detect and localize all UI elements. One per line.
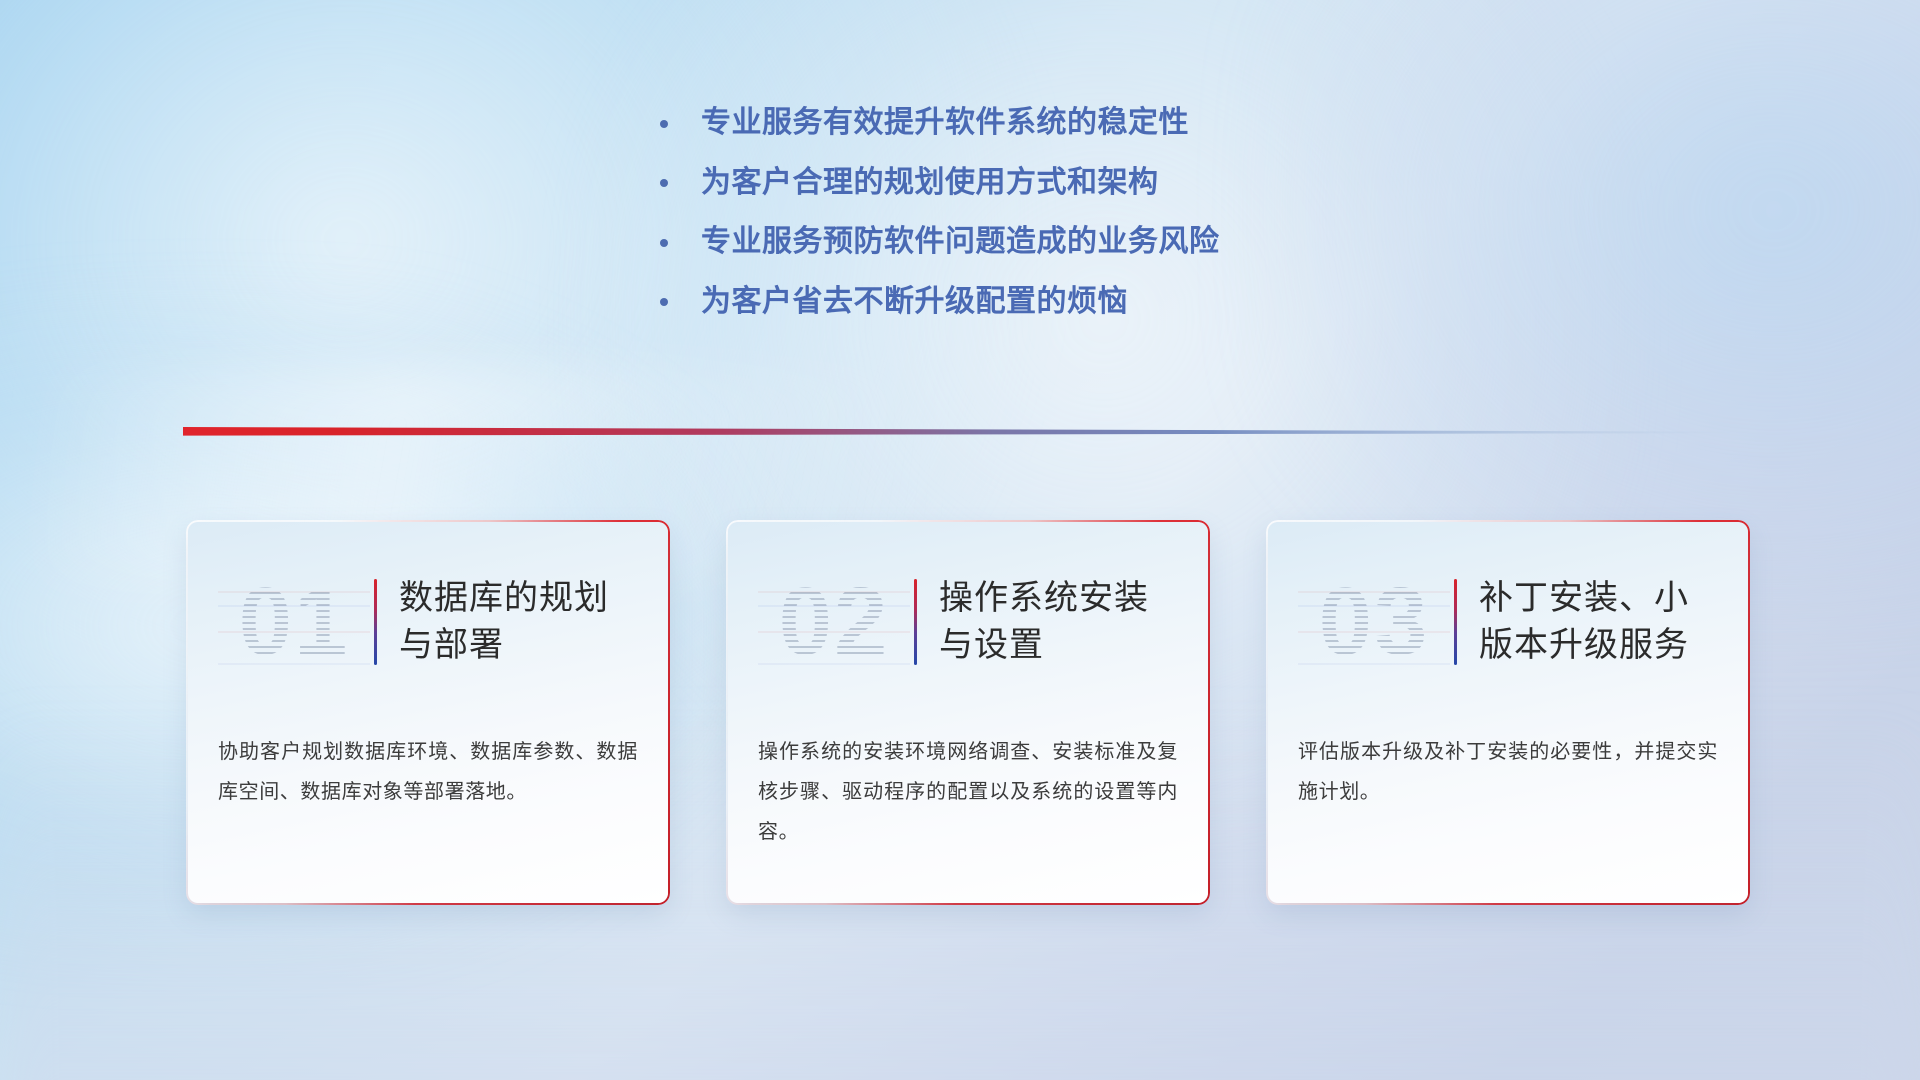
card-number: 01 [218, 574, 370, 670]
list-item: 为客户省去不断升级配置的烦恼 [660, 283, 1220, 321]
card-accent-rule [914, 579, 917, 665]
card-header: 02 操作系统安装与设置 [758, 558, 1178, 686]
card-title: 补丁安装、小版本升级服务 [1479, 575, 1718, 669]
service-card[interactable]: 01 数据库的规划与部署 协助客户规划数据库环境、数据库参数、数据库空间、数据库… [186, 520, 670, 905]
card-header: 01 数据库的规划与部署 [218, 558, 638, 686]
service-cards-row: 01 数据库的规划与部署 协助客户规划数据库环境、数据库参数、数据库空间、数据库… [186, 520, 1750, 905]
card-title: 操作系统安装与设置 [939, 575, 1178, 669]
bullet-dot-icon [660, 298, 668, 306]
card-body-text: 协助客户规划数据库环境、数据库参数、数据库空间、数据库对象等部署落地。 [218, 732, 638, 812]
bullet-text: 为客户合理的规划使用方式和架构 [701, 164, 1159, 202]
service-card[interactable]: 02 操作系统安装与设置 操作系统的安装环境网络调查、安装标准及复核步骤、驱动程… [726, 520, 1210, 905]
tapered-gradient-divider [183, 424, 1743, 442]
card-surface: 01 数据库的规划与部署 协助客户规划数据库环境、数据库参数、数据库空间、数据库… [188, 522, 668, 903]
card-number: 02 [758, 574, 910, 670]
bullet-dot-icon [660, 179, 668, 187]
card-accent-rule [374, 579, 377, 665]
card-surface: 02 操作系统安装与设置 操作系统的安装环境网络调查、安装标准及复核步骤、驱动程… [728, 522, 1208, 903]
list-item: 为客户合理的规划使用方式和架构 [660, 164, 1220, 202]
card-number: 03 [1298, 574, 1450, 670]
card-header: 03 补丁安装、小版本升级服务 [1298, 558, 1718, 686]
bullet-dot-icon [660, 120, 668, 128]
card-body-text: 评估版本升级及补丁安装的必要性，并提交实施计划。 [1298, 732, 1718, 812]
bullet-dot-icon [660, 239, 668, 247]
card-title: 数据库的规划与部署 [399, 575, 638, 669]
service-card[interactable]: 03 补丁安装、小版本升级服务 评估版本升级及补丁安装的必要性，并提交实施计划。 [1266, 520, 1750, 905]
card-accent-rule [1454, 579, 1457, 665]
list-item: 专业服务预防软件问题造成的业务风险 [660, 223, 1220, 261]
card-surface: 03 补丁安装、小版本升级服务 评估版本升级及补丁安装的必要性，并提交实施计划。 [1268, 522, 1748, 903]
list-item: 专业服务有效提升软件系统的稳定性 [660, 104, 1220, 142]
benefits-bullet-list: 专业服务有效提升软件系统的稳定性 为客户合理的规划使用方式和架构 专业服务预防软… [660, 104, 1220, 320]
card-body-text: 操作系统的安装环境网络调查、安装标准及复核步骤、驱动程序的配置以及系统的设置等内… [758, 732, 1178, 852]
bullet-text: 为客户省去不断升级配置的烦恼 [701, 283, 1128, 321]
bullet-text: 专业服务预防软件问题造成的业务风险 [701, 223, 1220, 261]
bullet-text: 专业服务有效提升软件系统的稳定性 [701, 104, 1189, 142]
